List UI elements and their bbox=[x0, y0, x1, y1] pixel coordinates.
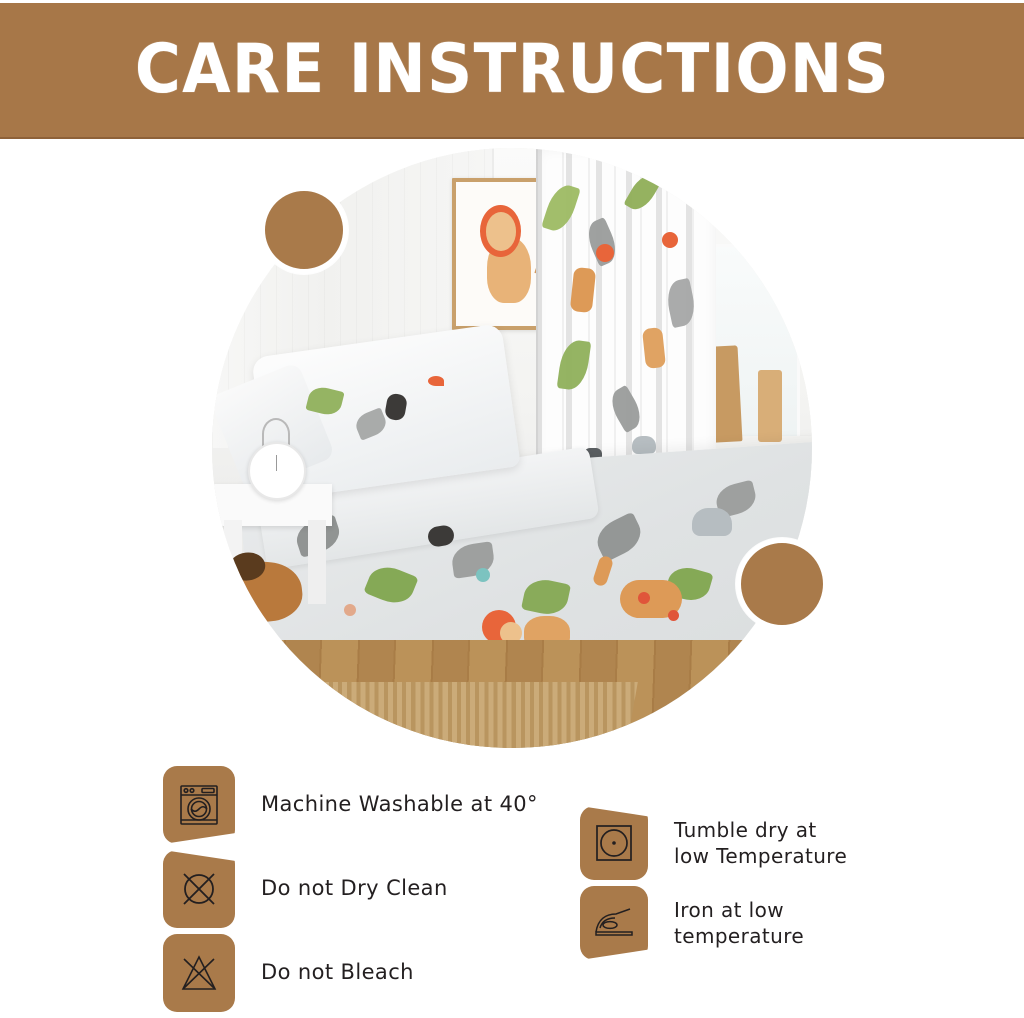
accent-dot-top-left bbox=[260, 186, 348, 274]
care-label-machine-wash: Machine Washable at 40° bbox=[261, 791, 538, 818]
care-instructions-left-column: Machine Washable at 40° Do not Dry Clean bbox=[163, 766, 563, 1012]
care-row-machine-wash: Machine Washable at 40° bbox=[163, 766, 563, 844]
curtain-giraffe bbox=[642, 327, 666, 369]
nightstand-leg bbox=[308, 520, 326, 604]
wooden-ornament-small bbox=[758, 370, 782, 442]
curtain-lion bbox=[662, 232, 678, 248]
header-band: CARE INSTRUCTIONS bbox=[0, 3, 1024, 139]
curtain-giraffe bbox=[570, 267, 596, 313]
care-label-iron: Iron at low temperature bbox=[674, 897, 804, 949]
care-instructions-right-column: Tumble dry at low Temperature Iron at lo… bbox=[580, 806, 980, 960]
care-label-do-not-bleach: Do not Bleach bbox=[261, 959, 414, 986]
bedding-giraffe-spot bbox=[638, 592, 650, 604]
bedding-flower bbox=[476, 568, 490, 582]
washing-machine-icon bbox=[163, 766, 235, 844]
accent-dot-bottom-right bbox=[736, 538, 828, 630]
do-not-dry-clean-icon bbox=[163, 850, 235, 928]
care-instructions-page: CARE INSTRUCTIONS bbox=[0, 0, 1024, 1018]
care-row-do-not-bleach: Do not Bleach bbox=[163, 934, 563, 1012]
curtain-elephant bbox=[632, 436, 656, 454]
curtain-lion bbox=[596, 244, 614, 262]
care-row-tumble-dry: Tumble dry at low Temperature bbox=[580, 806, 980, 880]
do-not-bleach-icon bbox=[163, 934, 235, 1012]
iron-low-icon bbox=[580, 886, 648, 960]
bedding-flower bbox=[344, 604, 356, 616]
care-row-iron: Iron at low temperature bbox=[580, 886, 980, 960]
alarm-clock bbox=[248, 442, 306, 500]
bedding-giraffe-spot bbox=[668, 610, 679, 621]
care-label-do-not-dry-clean: Do not Dry Clean bbox=[261, 875, 448, 902]
bedding-elephant bbox=[692, 508, 732, 536]
jute-rug bbox=[278, 682, 638, 748]
care-label-tumble-dry: Tumble dry at low Temperature bbox=[674, 817, 847, 869]
care-row-do-not-dry-clean: Do not Dry Clean bbox=[163, 850, 563, 928]
bedding-bird bbox=[428, 376, 444, 386]
tumble-dry-low-icon bbox=[580, 806, 648, 880]
lion-art-face bbox=[486, 212, 517, 251]
page-title: CARE INSTRUCTIONS bbox=[134, 36, 889, 104]
